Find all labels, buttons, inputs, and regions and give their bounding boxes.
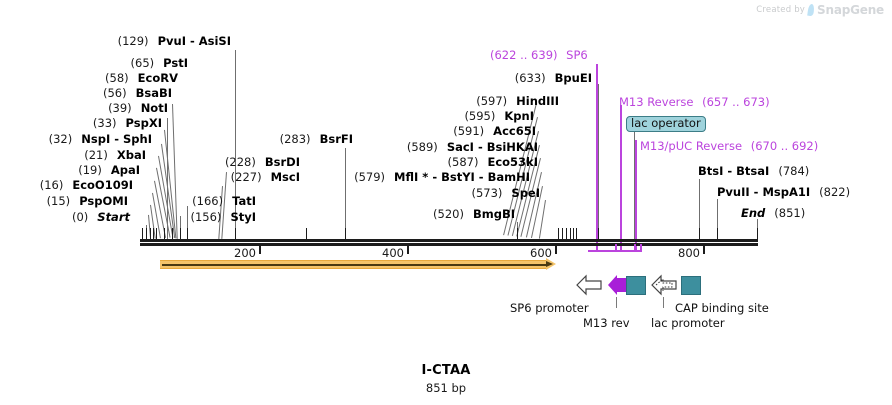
feature-label-cap-binding-site[interactable]: CAP binding site (675, 301, 769, 315)
left-arrow-outline-icon (575, 273, 603, 297)
feature-label-sp6-promoter[interactable]: SP6 promoter (510, 301, 589, 315)
feature-label-lac-promoter[interactable]: lac promoter (651, 316, 725, 330)
sequence-ruler: 200 400 600 800 (0, 0, 892, 405)
feature-label-m13-rev[interactable]: M13 rev (583, 316, 630, 330)
lac-promoter-stem (663, 297, 664, 308)
primer-tick-m13-puc-reverse (634, 244, 636, 251)
construct-length: 851 bp (0, 381, 892, 395)
left-arrow-dotted-icon (650, 273, 678, 297)
ruler-tick-label-400: 400 (364, 246, 404, 260)
lac-operator-glyph[interactable] (626, 276, 646, 295)
construct-title: I-CTAA (0, 363, 892, 378)
m13-rev-stem (616, 297, 617, 308)
ruler-tick-label-800: 800 (660, 246, 700, 260)
orf-arrow[interactable] (160, 260, 556, 269)
cap-binding-site-glyph[interactable] (681, 276, 701, 295)
sequence-map-canvas: Created by SnapGene (0, 0, 892, 405)
lac-promoter-glyph[interactable] (650, 273, 678, 301)
sp6-promoter-glyph[interactable] (575, 273, 603, 301)
ruler-tick-label-200: 200 (216, 246, 256, 260)
